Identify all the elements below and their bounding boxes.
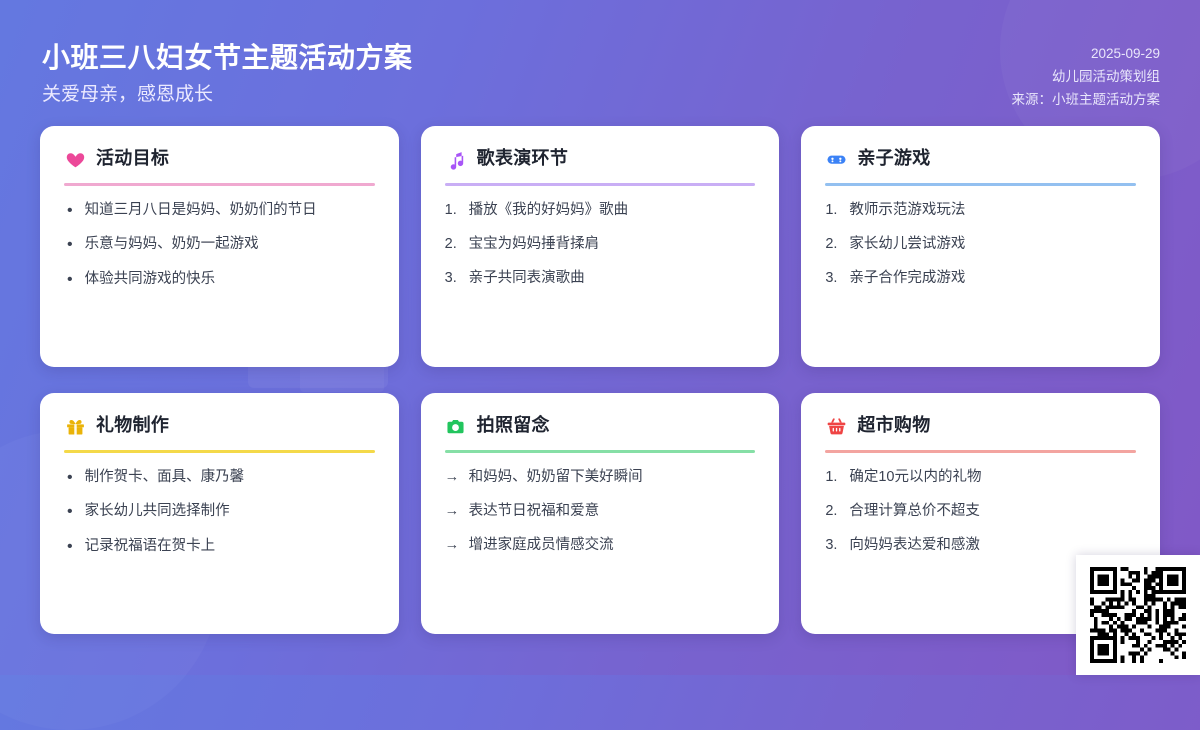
list-item-text: 知道三月八日是妈妈、奶奶们的节日 <box>85 200 375 222</box>
list-marker: 3. <box>825 268 840 290</box>
header-date: 2025-09-29 <box>1012 42 1161 65</box>
list-item: →增进家庭成员情感交流 <box>445 535 756 557</box>
list-marker: 2. <box>445 234 460 256</box>
list-marker: 1. <box>825 467 840 489</box>
card-activity-goals[interactable]: 活动目标•知道三月八日是妈妈、奶奶们的节日•乐意与妈妈、奶奶一起游戏•体验共同游… <box>40 126 399 367</box>
list-marker: → <box>445 535 460 557</box>
list-item: •体验共同游戏的快乐 <box>64 269 375 291</box>
card-item-list: 1.教师示范游戏玩法2.家长幼儿尝试游戏3.亲子合作完成游戏 <box>825 200 1136 289</box>
list-marker: • <box>64 501 76 523</box>
list-item-text: 播放《我的好妈妈》歌曲 <box>469 200 756 222</box>
list-item-text: 家长幼儿共同选择制作 <box>85 501 375 523</box>
list-item: •家长幼儿共同选择制作 <box>64 501 375 523</box>
list-marker: 3. <box>445 268 460 290</box>
list-item-text: 家长幼儿尝试游戏 <box>849 234 1136 256</box>
list-marker: • <box>64 200 76 222</box>
card-accent-rule <box>825 450 1136 453</box>
list-item-text: 制作贺卡、面具、康乃馨 <box>85 467 375 489</box>
list-item: →表达节日祝福和爱意 <box>445 501 756 523</box>
basket-icon <box>825 415 847 437</box>
list-item: 2.家长幼儿尝试游戏 <box>825 234 1136 256</box>
list-item: •知道三月八日是妈妈、奶奶们的节日 <box>64 200 375 222</box>
card-accent-rule <box>64 183 375 186</box>
camera-icon <box>445 415 467 437</box>
qr-code-panel[interactable] <box>1076 555 1200 675</box>
header-title-block: 小班三八妇女节主题活动方案 关爱母亲，感恩成长 <box>42 40 413 108</box>
gamepad-icon <box>825 148 847 170</box>
slide-page: 小班三八妇女节主题活动方案 关爱母亲，感恩成长 2025-09-29 幼儿园活动… <box>0 0 1200 675</box>
page-subtitle: 关爱母亲，感恩成长 <box>42 83 413 108</box>
card-parent-child-games[interactable]: 亲子游戏1.教师示范游戏玩法2.家长幼儿尝试游戏3.亲子合作完成游戏 <box>801 126 1160 367</box>
list-item: 1.教师示范游戏玩法 <box>825 200 1136 222</box>
card-grid: 活动目标•知道三月八日是妈妈、奶奶们的节日•乐意与妈妈、奶奶一起游戏•体验共同游… <box>40 126 1160 634</box>
card-header: 歌表演环节 <box>445 148 756 170</box>
list-item-text: 确定10元以内的礼物 <box>849 467 1136 489</box>
list-marker: • <box>64 536 76 558</box>
list-item-text: 记录祝福语在贺卡上 <box>85 536 375 558</box>
list-item-text: 乐意与妈妈、奶奶一起游戏 <box>85 234 375 256</box>
card-accent-rule <box>825 183 1136 186</box>
list-item-text: 表达节日祝福和爱意 <box>469 501 756 523</box>
list-item: 2.宝宝为妈妈捶背揉肩 <box>445 234 756 256</box>
list-item: 2.合理计算总价不超支 <box>825 501 1136 523</box>
list-item-text: 向妈妈表达爱和感激 <box>849 535 1136 557</box>
list-item-text: 和妈妈、奶奶留下美好瞬间 <box>469 467 756 489</box>
card-title: 礼物制作 <box>96 415 169 437</box>
list-item: 1.播放《我的好妈妈》歌曲 <box>445 200 756 222</box>
list-item: 1.确定10元以内的礼物 <box>825 467 1136 489</box>
list-marker: • <box>64 269 76 291</box>
music-note-icon <box>445 148 467 170</box>
card-header: 礼物制作 <box>64 415 375 437</box>
card-item-list: →和妈妈、奶奶留下美好瞬间→表达节日祝福和爱意→增进家庭成员情感交流 <box>445 467 756 556</box>
list-marker: • <box>64 467 76 489</box>
card-item-list: 1.确定10元以内的礼物2.合理计算总价不超支3.向妈妈表达爱和感激 <box>825 467 1136 556</box>
list-item-text: 合理计算总价不超支 <box>849 501 1136 523</box>
card-photo-souvenir[interactable]: 拍照留念→和妈妈、奶奶留下美好瞬间→表达节日祝福和爱意→增进家庭成员情感交流 <box>421 393 780 634</box>
list-marker: → <box>445 467 460 489</box>
list-item: •乐意与妈妈、奶奶一起游戏 <box>64 234 375 256</box>
list-item: 3.向妈妈表达爱和感激 <box>825 535 1136 557</box>
card-title: 超市购物 <box>857 415 930 437</box>
header-source: 来源：小班主题活动方案 <box>1012 88 1161 111</box>
gift-icon <box>64 415 86 437</box>
card-item-list: •知道三月八日是妈妈、奶奶们的节日•乐意与妈妈、奶奶一起游戏•体验共同游戏的快乐 <box>64 200 375 291</box>
card-accent-rule <box>64 450 375 453</box>
list-item-text: 宝宝为妈妈捶背揉肩 <box>469 234 756 256</box>
list-marker: 2. <box>825 234 840 256</box>
card-gift-making[interactable]: 礼物制作•制作贺卡、面具、康乃馨•家长幼儿共同选择制作•记录祝福语在贺卡上 <box>40 393 399 634</box>
card-item-list: •制作贺卡、面具、康乃馨•家长幼儿共同选择制作•记录祝福语在贺卡上 <box>64 467 375 558</box>
card-title: 活动目标 <box>96 148 169 170</box>
card-header: 亲子游戏 <box>825 148 1136 170</box>
slide-header: 小班三八妇女节主题活动方案 关爱母亲，感恩成长 2025-09-29 幼儿园活动… <box>0 0 1200 120</box>
list-marker: → <box>445 501 460 523</box>
heart-icon <box>64 148 86 170</box>
header-meta-block: 2025-09-29 幼儿园活动策划组 来源：小班主题活动方案 <box>1012 42 1161 112</box>
list-marker: 1. <box>825 200 840 222</box>
list-item: 3.亲子合作完成游戏 <box>825 268 1136 290</box>
card-header: 活动目标 <box>64 148 375 170</box>
card-item-list: 1.播放《我的好妈妈》歌曲2.宝宝为妈妈捶背揉肩3.亲子共同表演歌曲 <box>445 200 756 289</box>
page-title: 小班三八妇女节主题活动方案 <box>42 40 413 75</box>
list-item: •记录祝福语在贺卡上 <box>64 536 375 558</box>
card-accent-rule <box>445 450 756 453</box>
list-item-text: 体验共同游戏的快乐 <box>85 269 375 291</box>
list-item: •制作贺卡、面具、康乃馨 <box>64 467 375 489</box>
list-marker: 3. <box>825 535 840 557</box>
card-song-performance[interactable]: 歌表演环节1.播放《我的好妈妈》歌曲2.宝宝为妈妈捶背揉肩3.亲子共同表演歌曲 <box>421 126 780 367</box>
list-item: 3.亲子共同表演歌曲 <box>445 268 756 290</box>
qr-code <box>1090 567 1186 663</box>
card-title: 歌表演环节 <box>477 148 569 170</box>
list-marker: • <box>64 234 76 256</box>
list-marker: 1. <box>445 200 460 222</box>
list-item: →和妈妈、奶奶留下美好瞬间 <box>445 467 756 489</box>
list-item-text: 教师示范游戏玩法 <box>849 200 1136 222</box>
header-organization: 幼儿园活动策划组 <box>1012 65 1161 88</box>
card-title: 亲子游戏 <box>857 148 930 170</box>
list-item-text: 亲子共同表演歌曲 <box>469 268 756 290</box>
card-header: 拍照留念 <box>445 415 756 437</box>
list-marker: 2. <box>825 501 840 523</box>
card-title: 拍照留念 <box>477 415 550 437</box>
list-item-text: 增进家庭成员情感交流 <box>469 535 756 557</box>
card-accent-rule <box>445 183 756 186</box>
card-header: 超市购物 <box>825 415 1136 437</box>
list-item-text: 亲子合作完成游戏 <box>849 268 1136 290</box>
